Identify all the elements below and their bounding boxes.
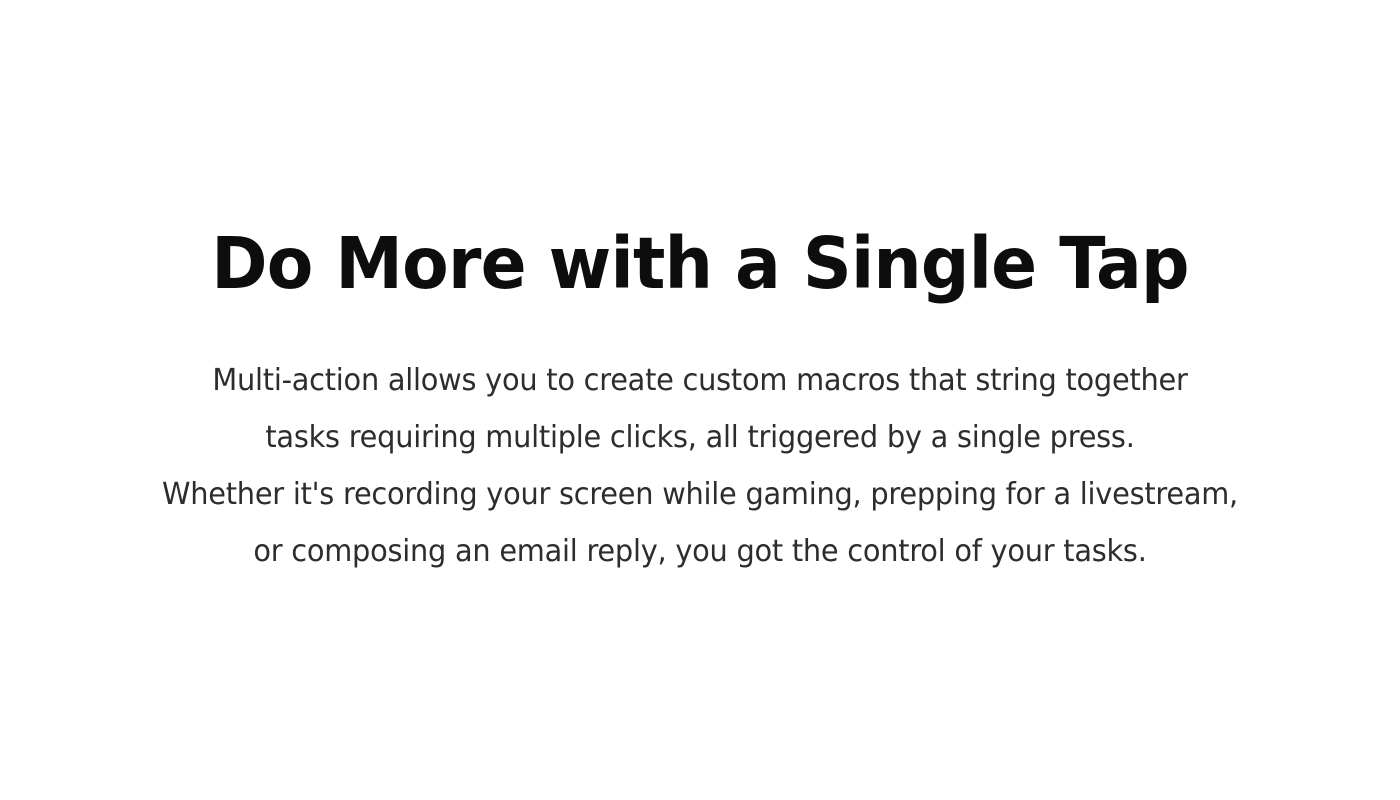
text-content-block: Do More with a Single Tap Multi-action a… <box>0 0 1400 800</box>
slide-canvas: Do More with a Single Tap Multi-action a… <box>0 0 1400 800</box>
body-line-2: tasks requiring multiple clicks, all tri… <box>28 409 1372 466</box>
page-title: Do More with a Single Tap <box>32 221 1369 307</box>
body-line-3: Whether it's recording your screen while… <box>28 466 1372 523</box>
body-paragraph: Multi-action allows you to create custom… <box>28 352 1372 580</box>
body-line-1: Multi-action allows you to create custom… <box>28 352 1372 409</box>
body-line-4: or composing an email reply, you got the… <box>28 523 1372 580</box>
